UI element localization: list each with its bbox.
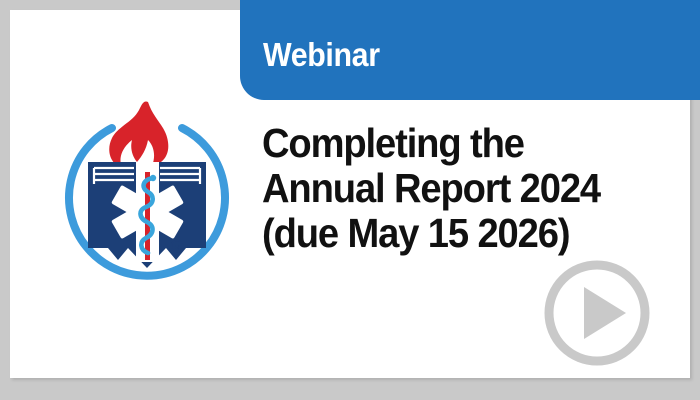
- play-triangle-icon: [584, 287, 626, 339]
- play-button[interactable]: [544, 260, 650, 366]
- title-line-2: Annual Report 2024: [262, 166, 653, 211]
- webinar-thumbnail-card[interactable]: R Webinar Completing the Annual Report 2…: [0, 0, 700, 400]
- title-line-1: Completing the: [262, 121, 653, 166]
- title-line-3: (due May 15 2026): [262, 211, 653, 256]
- banner-label: Webinar: [263, 38, 380, 72]
- webinar-title: Completing the Annual Report 2024 (due M…: [262, 121, 682, 256]
- logo-flame-icon: [109, 101, 168, 168]
- organization-logo: R: [58, 98, 236, 280]
- svg-text:R: R: [174, 242, 179, 251]
- webinar-banner: Webinar: [240, 0, 700, 100]
